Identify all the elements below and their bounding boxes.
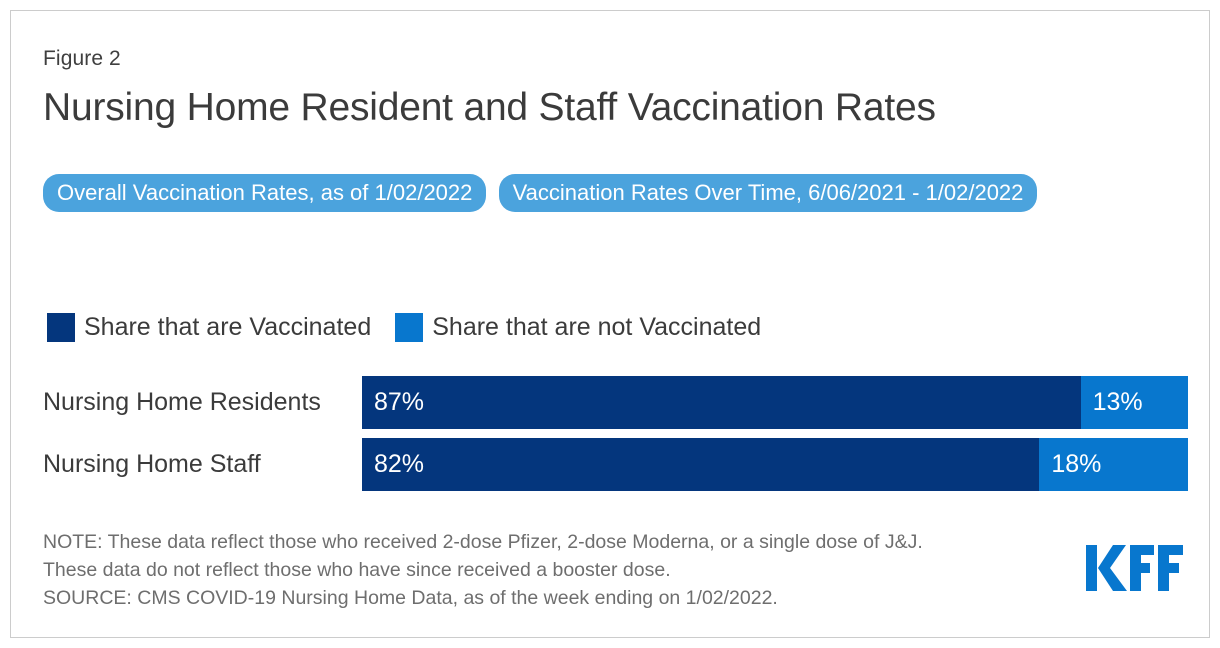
bar-value-label: 87% (362, 388, 424, 417)
figure-card: Figure 2 Nursing Home Resident and Staff… (10, 10, 1210, 638)
bar-segment-vaccinated[interactable]: 82% (362, 438, 1039, 491)
bar-track: 87% 13% (362, 376, 1188, 429)
bar-category-label: Nursing Home Staff (43, 450, 362, 479)
bar-value-label: 18% (1039, 450, 1101, 479)
bar-segment-vaccinated[interactable]: 87% (362, 376, 1081, 429)
bar-segment-not-vaccinated[interactable]: 18% (1039, 438, 1188, 491)
kff-logo (1086, 545, 1186, 591)
bar-value-label: 82% (362, 450, 424, 479)
bar-row: Nursing Home Staff 82% 18% (43, 438, 1188, 491)
bar-category-label: Nursing Home Residents (43, 388, 362, 417)
bar-track: 82% 18% (362, 438, 1188, 491)
note-line-2: These data do not reflect those who have… (43, 556, 1063, 584)
bar-row: Nursing Home Residents 87% 13% (43, 376, 1188, 429)
source-line: SOURCE: CMS COVID-19 Nursing Home Data, … (43, 584, 1063, 612)
footer-notes: NOTE: These data reflect those who recei… (43, 528, 1063, 612)
bar-value-label: 13% (1081, 388, 1143, 417)
note-line-1: NOTE: These data reflect those who recei… (43, 528, 1063, 556)
bar-segment-not-vaccinated[interactable]: 13% (1081, 376, 1188, 429)
